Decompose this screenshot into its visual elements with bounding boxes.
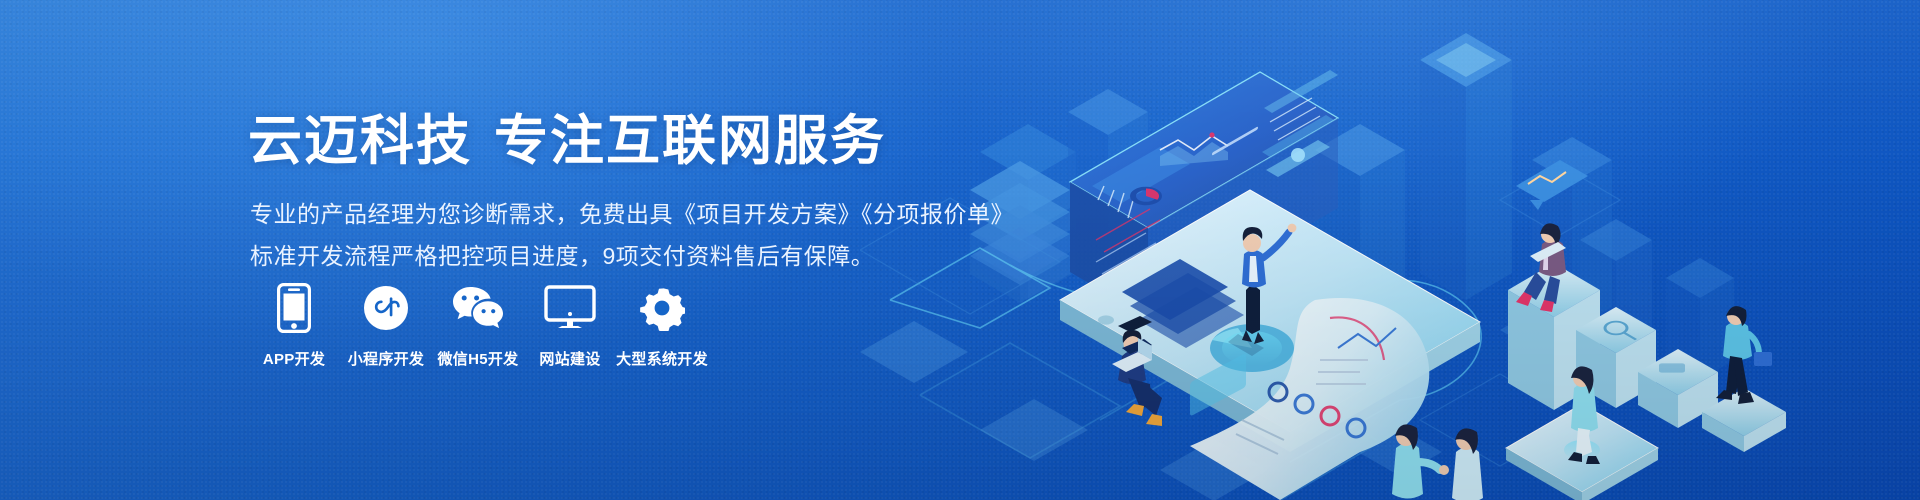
mini-program-icon (363, 282, 409, 334)
service-list: APP开发 小程序开发 (248, 282, 708, 369)
page-title: 云迈科技专注互联网服务 (248, 114, 886, 168)
service-label: 小程序开发 (348, 348, 425, 369)
subtitle-line-2: 标准开发流程严格把控项目进度，9项交付资料售后有保障。 (250, 245, 874, 268)
standing-man-pointing (1228, 224, 1296, 356)
subtitle-line-1: 专业的产品经理为您诊断需求，免费出具《项目开发方案》《分项报价单》 (250, 203, 1014, 226)
headline-slogan: 专注互联网服务 (494, 111, 886, 171)
mobile-phone-icon (277, 282, 311, 334)
hero-banner: 云迈科技专注互联网服务 专业的产品经理为您诊断需求，免费出具《项目开发方案》《分… (0, 0, 1920, 500)
step-block (1638, 349, 1718, 428)
service-label: 微信H5开发 (438, 348, 519, 369)
gear-icon (639, 282, 685, 334)
wechat-icon (451, 282, 505, 334)
service-item-wechat-h5[interactable]: 微信H5开发 (432, 282, 524, 369)
service-item-website[interactable]: 网站建设 (524, 282, 616, 369)
headline-brand: 云迈科技 (248, 111, 472, 171)
search-pedestal (1576, 307, 1656, 408)
two-people-talking (1392, 424, 1483, 500)
service-label: APP开发 (263, 348, 325, 369)
woman-on-pedestal-with-laptop (1508, 160, 1600, 410)
service-item-mini-program[interactable]: 小程序开发 (340, 282, 432, 369)
flowing-data-sheet (1190, 298, 1429, 500)
service-item-large-system[interactable]: 大型系统开发 (616, 282, 708, 369)
service-label: 大型系统开发 (616, 348, 708, 369)
banner-content: 云迈科技专注互联网服务 专业的产品经理为您诊断需求，免费出具《项目开发方案》《分… (248, 0, 1148, 500)
woman-on-tablet-platform (1506, 366, 1658, 500)
service-label: 网站建设 (539, 348, 600, 369)
monitor-icon (544, 282, 596, 334)
man-with-briefcase (1702, 306, 1786, 452)
service-item-app[interactable]: APP开发 (248, 282, 340, 369)
